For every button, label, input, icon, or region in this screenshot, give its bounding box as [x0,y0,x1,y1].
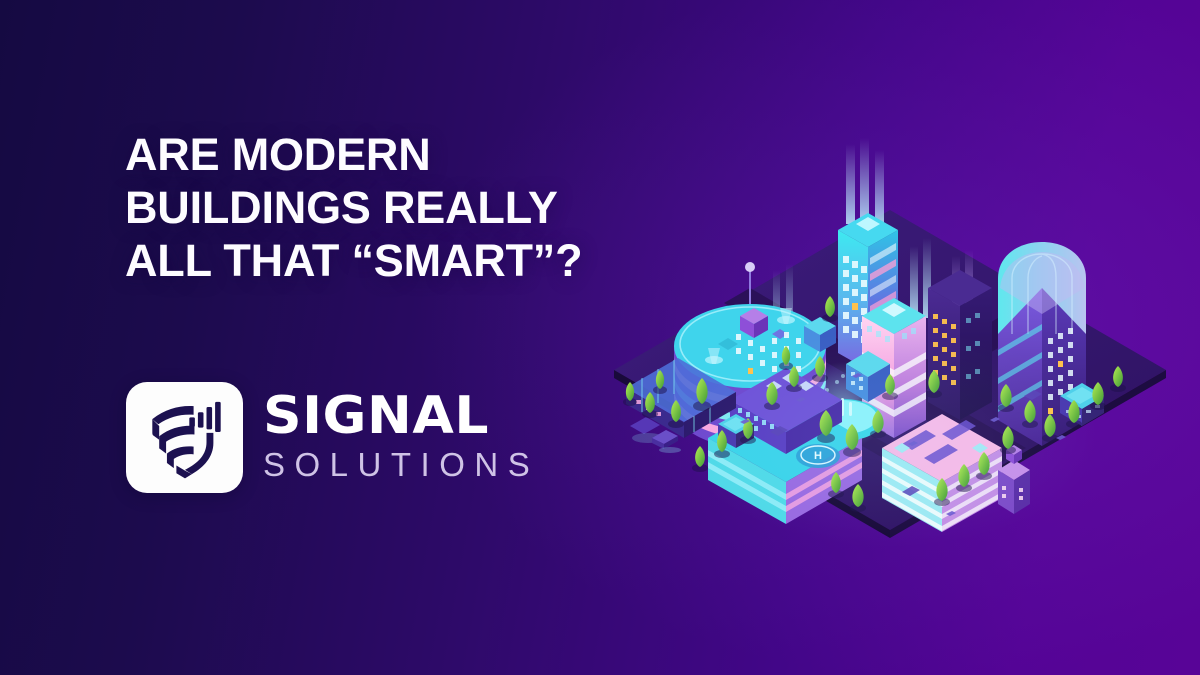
headline-line-3: ALL THAT “SMART”? [125,234,745,287]
headline-line-1: ARE MODERN [125,128,745,181]
brand-wordmark: SIGNAL SOLUTIONS [263,391,539,484]
banner-canvas: ARE MODERN BUILDINGS REALLY ALL THAT “SM… [0,0,1200,675]
brand-name-primary: SIGNAL [263,391,547,441]
ambient-glow [680,328,1100,548]
brand-name-secondary: SOLUTIONS [263,446,539,484]
page-title: ARE MODERN BUILDINGS REALLY ALL THAT “SM… [125,128,745,287]
headline-line-2: BUILDINGS REALLY [125,181,745,234]
signal-shield-icon [126,382,243,493]
brand-logo: SIGNAL SOLUTIONS [126,382,539,493]
